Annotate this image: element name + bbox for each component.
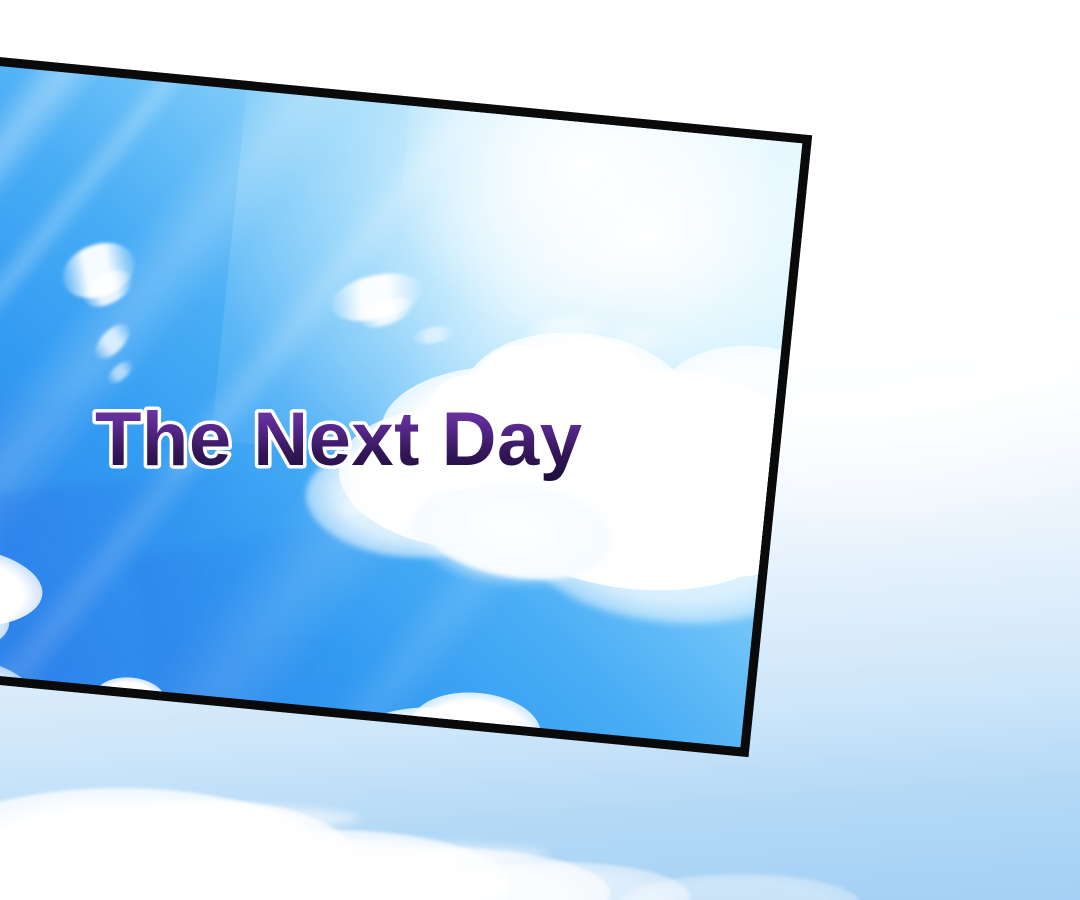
background-cloud-wisp — [100, 805, 360, 831]
comic-panel-frame — [0, 55, 812, 757]
scene-canvas: The Next Day The Next Day — [0, 0, 1080, 900]
sky-panel — [0, 55, 812, 757]
background-cloud-wisp — [250, 842, 550, 864]
